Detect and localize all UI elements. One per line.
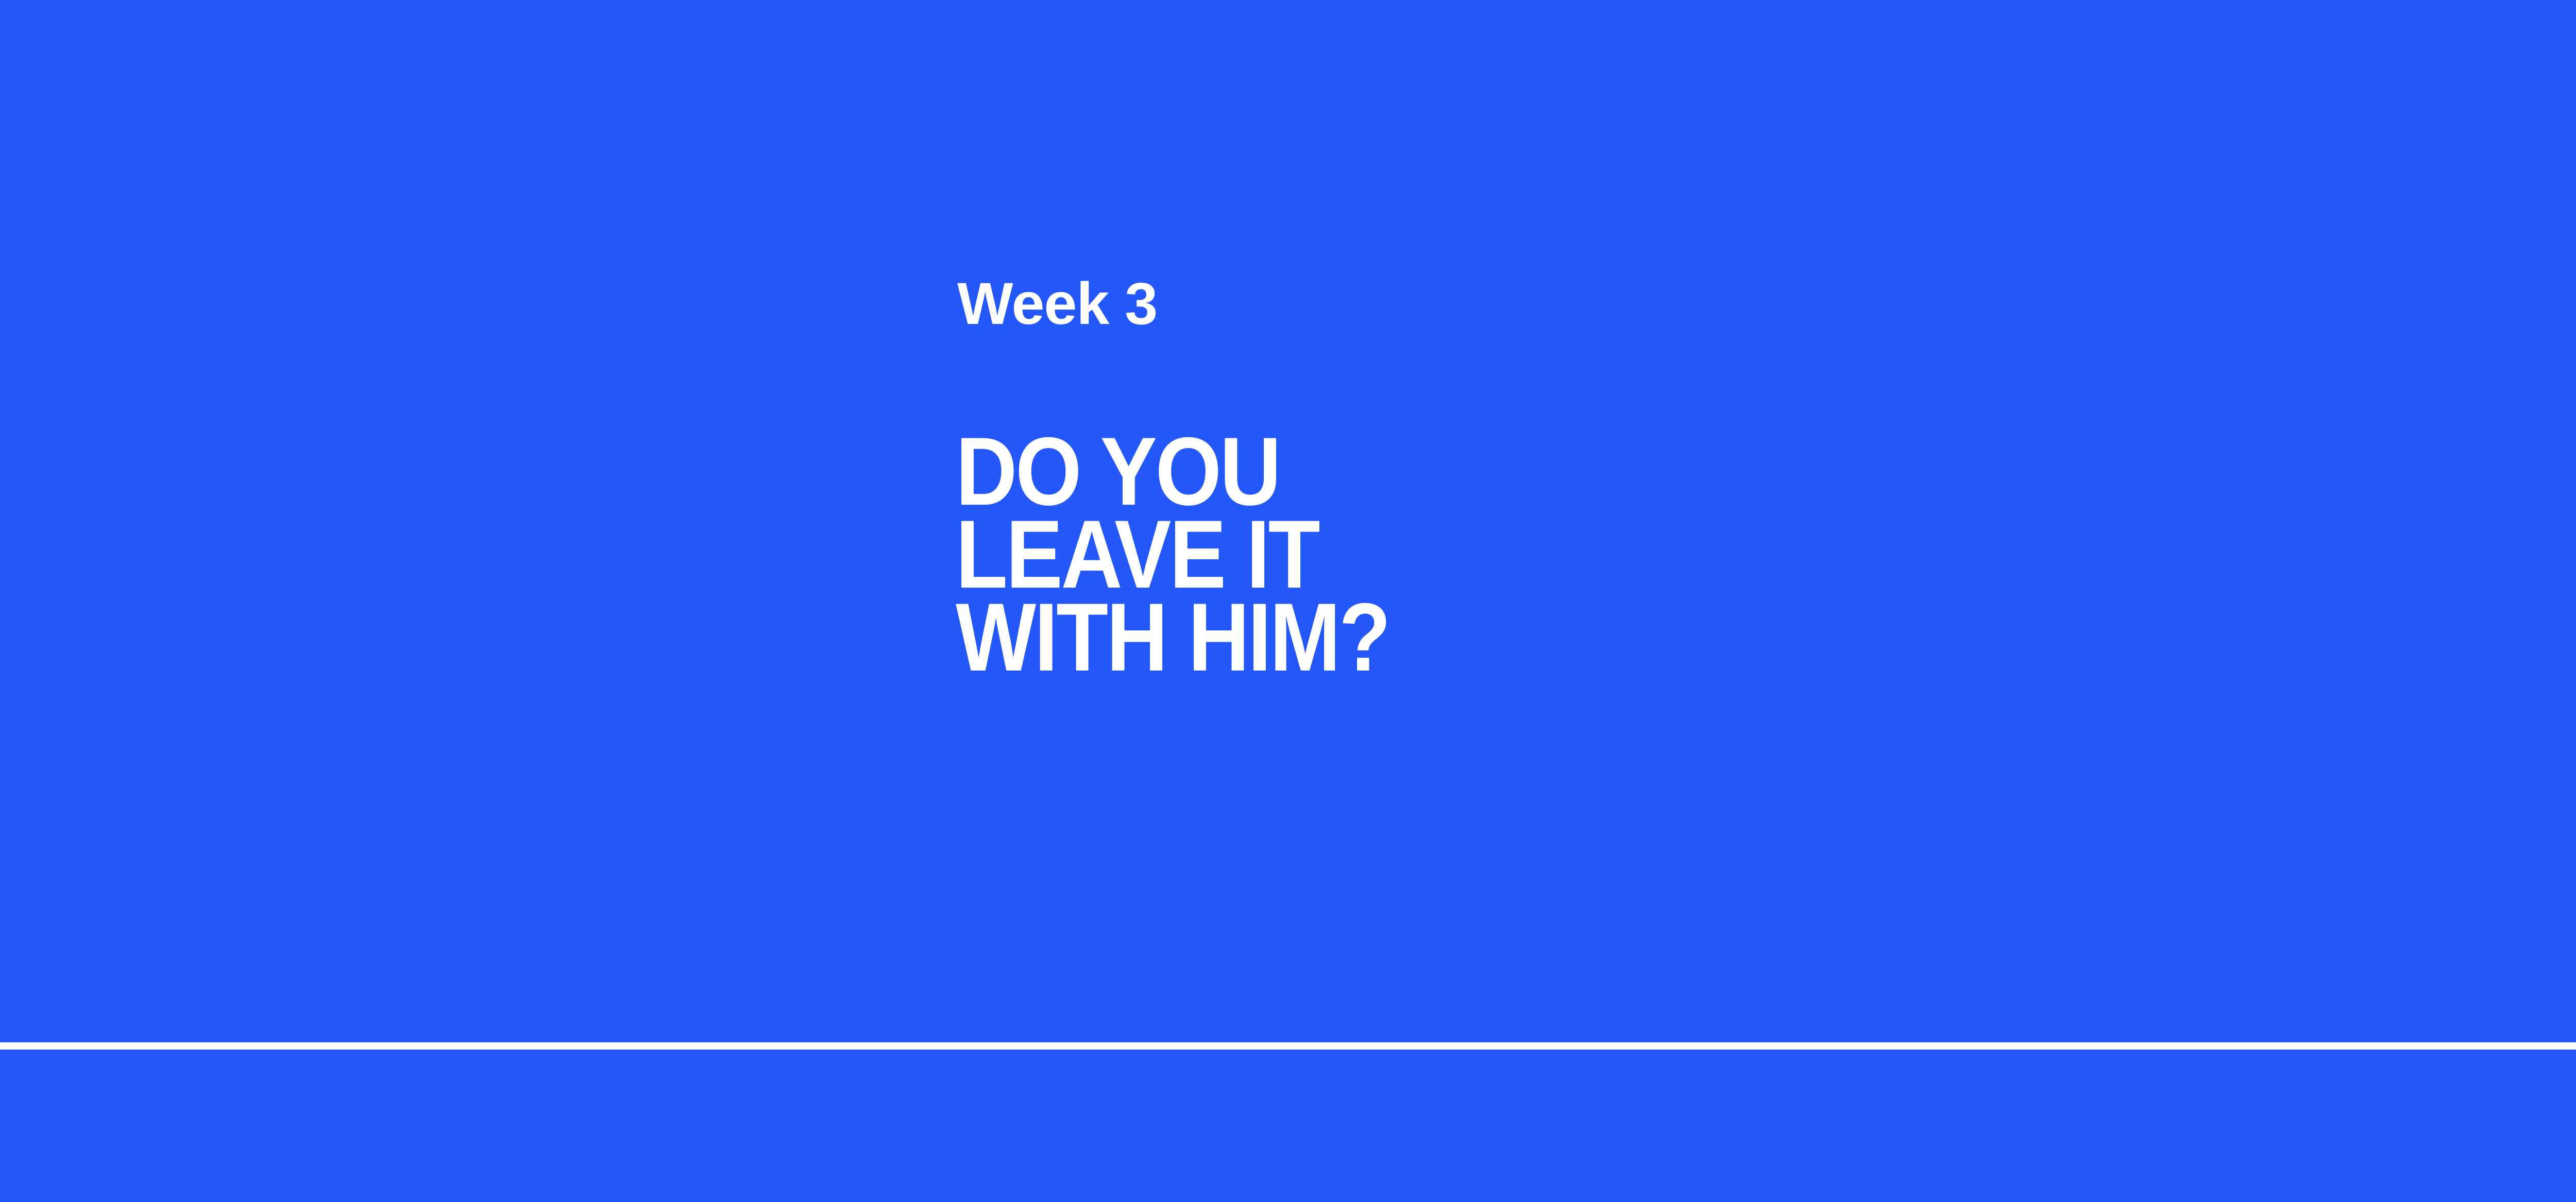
horizontal-divider: [0, 1042, 2576, 1050]
slide-canvas: Week 3 DO YOU LEAVE IT WITH HIM?: [0, 0, 2576, 1202]
page-title: DO YOU LEAVE IT WITH HIM?: [956, 430, 1389, 679]
eyebrow-label: Week 3: [957, 274, 1157, 334]
headline-line-3: WITH HIM?: [956, 596, 1389, 679]
